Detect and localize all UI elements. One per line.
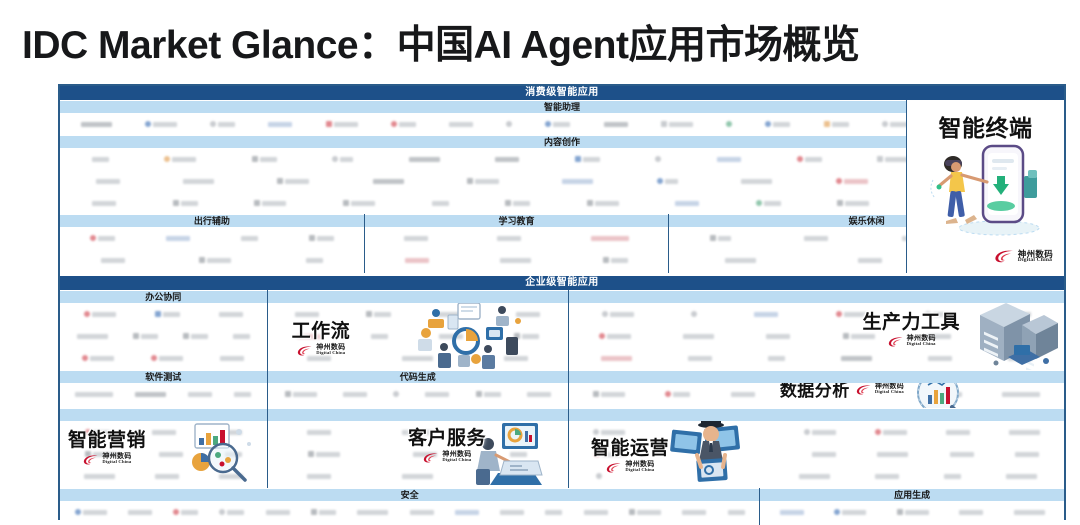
logo-grid-travel — [60, 227, 364, 273]
digital-china-logo: 神州数码 Digital China — [605, 461, 654, 473]
logo-item — [393, 391, 399, 397]
logo-item — [765, 121, 790, 127]
marketing-chart-magnifier-illustration — [173, 422, 259, 484]
logo-item — [373, 179, 404, 184]
logo-item — [410, 510, 434, 515]
brand-name-en: Digital China — [1018, 258, 1053, 264]
logo-item — [804, 429, 836, 435]
logo-row — [60, 325, 267, 347]
logo-grid-productivity: 生产力工具 神州数码 Digital China — [568, 303, 1064, 370]
logo-row — [60, 383, 267, 405]
logo-item — [877, 156, 909, 162]
logo-item — [959, 510, 983, 515]
logo-item — [455, 510, 479, 515]
logo-item — [277, 178, 309, 184]
logo-item — [402, 474, 433, 479]
server-rack-illustration — [960, 303, 1060, 370]
callout-productivity-tools: 生产力工具 神州数码 Digital China — [863, 307, 961, 347]
logo-grid-data-analysis: 数据分析 神州数码 Digital China — [568, 383, 1064, 408]
logo-item — [897, 509, 929, 515]
logo-item — [728, 510, 745, 515]
logo-item — [837, 200, 869, 206]
callout-label: 数据分析 — [780, 383, 850, 401]
enterprise-row1-logos: 工作流 神州数码 Digital China — [60, 303, 1064, 370]
logo-item — [92, 201, 116, 206]
logo-item — [601, 356, 632, 361]
logo-item — [326, 121, 358, 127]
logo-item — [183, 179, 214, 184]
consumer-section: 消费级智能应用 智能助理 — [60, 86, 1064, 273]
logo-item — [575, 156, 600, 162]
logo-item — [219, 509, 244, 515]
logo-item — [877, 452, 908, 457]
column-label-row3-left — [60, 408, 267, 421]
logo-row — [60, 249, 364, 271]
logo-item — [629, 509, 661, 515]
logo-item — [183, 333, 208, 339]
column-label-security: 安全 — [60, 488, 759, 501]
logo-item — [675, 201, 699, 206]
callout-workflow: 工作流 神州数码 Digital China — [292, 316, 351, 356]
logo-item — [306, 258, 323, 263]
logo-item — [587, 200, 619, 206]
column-label-travel: 出行辅助 — [60, 214, 364, 227]
logo-item — [155, 311, 180, 317]
logo-item — [841, 356, 872, 361]
digital-china-logo: 神州数码 Digital China — [855, 383, 904, 395]
logo-item — [92, 157, 109, 162]
logo-item — [210, 121, 235, 127]
logo-item — [90, 235, 115, 241]
column-label-education: 学习教育 — [365, 214, 669, 227]
logo-item — [133, 333, 158, 339]
logo-item — [710, 235, 731, 241]
logo-item — [77, 334, 108, 339]
logo-item — [164, 156, 196, 162]
callout-data-analysis: 数据分析 神州数码 Digital China — [780, 383, 904, 401]
logo-item — [766, 334, 790, 339]
logo-item — [1002, 392, 1040, 397]
logo-item — [596, 473, 602, 479]
logo-item — [495, 157, 519, 162]
column-label-office-collab: 办公协同 — [60, 290, 267, 303]
logo-row — [760, 501, 1064, 523]
enterprise-section: 企业级智能应用 办公协同 — [60, 276, 1064, 525]
logo-row — [365, 249, 669, 271]
logo-item — [409, 157, 440, 162]
logo-item — [599, 333, 631, 339]
logo-grid-office-collab — [60, 303, 267, 370]
callout-label: 客户服务 — [408, 423, 486, 450]
logo-item — [268, 122, 292, 127]
logo-item — [449, 122, 473, 127]
column-label-software-testing: 软件测试 — [60, 370, 267, 383]
digital-china-wordmark: 神州数码 Digital China — [1018, 250, 1053, 264]
digital-china-wordmark: 神州数码 Digital China — [316, 344, 345, 356]
logo-item — [432, 201, 449, 206]
brand-name-en: Digital China — [442, 458, 471, 463]
logo-item — [691, 311, 697, 317]
logo-item — [467, 178, 499, 184]
enterprise-row3-labels — [60, 408, 1064, 421]
logo-item — [591, 236, 629, 241]
enterprise-footer-labels: 安全 应用生成 — [60, 488, 1064, 501]
logo-grid-education — [364, 227, 669, 273]
digital-china-wordmark: 神州数码 Digital China — [907, 335, 936, 347]
logo-item — [657, 178, 678, 184]
logo-item — [545, 121, 570, 127]
logo-item — [1009, 430, 1040, 435]
logo-item — [233, 334, 250, 339]
logo-item — [506, 121, 512, 127]
logo-item — [309, 235, 334, 241]
digital-china-swirl-icon — [82, 453, 99, 465]
callout-customer-service: 客户服务 神州数码 Digital China — [408, 423, 486, 463]
logo-item — [754, 312, 778, 317]
logo-item — [824, 121, 849, 127]
logo-item — [725, 258, 756, 263]
logo-item — [756, 200, 781, 206]
logo-item — [199, 257, 231, 263]
logo-item — [683, 334, 714, 339]
logo-item — [946, 430, 970, 435]
logo-grid-security — [60, 501, 759, 525]
enterprise-row2-logos: 数据分析 神州数码 Digital China — [60, 383, 1064, 408]
consumer-header: 消费级智能应用 — [60, 86, 1064, 100]
logo-item — [75, 509, 107, 515]
logo-item — [655, 156, 661, 162]
market-board: 消费级智能应用 智能助理 — [58, 84, 1066, 520]
logo-grid-workflow: 工作流 神州数码 Digital China — [267, 303, 568, 370]
callout-label: 工作流 — [292, 316, 351, 343]
logo-item — [425, 392, 449, 397]
logo-item — [220, 356, 244, 361]
callout-smart-marketing: 智能营销 神州数码 Digital China — [68, 425, 146, 465]
logo-item — [661, 121, 693, 127]
logo-item — [505, 200, 530, 206]
logo-item — [497, 236, 521, 241]
logo-item — [602, 311, 634, 317]
logo-item — [391, 121, 416, 127]
logo-grid-smart-operations: 智能运营 神州数码 Digital China — [568, 421, 1064, 488]
logo-grid-code-generation — [267, 383, 568, 408]
logo-item — [858, 258, 882, 263]
logo-row — [365, 227, 669, 249]
logo-item — [366, 311, 391, 317]
logo-item — [812, 452, 836, 457]
enterprise-row3-logos: 智能营销 神州数码 Digital China — [60, 421, 1064, 488]
logo-item — [834, 509, 866, 515]
logo-row — [60, 303, 267, 325]
logo-item — [252, 156, 277, 162]
magnifier-data-circle-illustration — [910, 383, 972, 408]
digital-china-logo: 神州数码 Digital China — [422, 451, 471, 463]
logo-item — [82, 355, 114, 361]
callout-label: 智能终端 — [939, 109, 1033, 143]
logo-item — [928, 356, 952, 361]
digital-china-wordmark: 神州数码 Digital China — [875, 383, 904, 395]
digital-china-logo: 神州数码 Digital China — [82, 453, 131, 465]
logo-item — [135, 392, 166, 397]
logo-item — [731, 392, 755, 397]
logo-item — [545, 510, 562, 515]
logo-item — [96, 179, 120, 184]
logo-item — [254, 200, 286, 206]
logo-item — [84, 474, 115, 479]
column-label-row1-middle — [268, 290, 568, 303]
callout-smart-operations: 智能运营 神州数码 Digital China — [591, 433, 669, 473]
logo-item — [944, 474, 961, 479]
logo-row — [60, 347, 267, 369]
workflow-people-collage-illustration — [414, 303, 536, 370]
logo-item — [404, 236, 428, 241]
digital-china-wordmark: 神州数码 Digital China — [625, 461, 654, 473]
brand-name-en: Digital China — [316, 351, 345, 356]
logo-item — [75, 392, 113, 397]
logo-item — [1014, 510, 1045, 515]
logo-item — [804, 236, 828, 241]
logo-item — [604, 122, 628, 127]
logo-item — [188, 392, 212, 397]
logo-item — [780, 510, 804, 515]
logo-item — [726, 121, 732, 127]
brand-name-en: Digital China — [907, 342, 936, 347]
enterprise-footer-logos — [60, 501, 1064, 525]
callout-label: 智能运营 — [591, 433, 669, 460]
digital-china-logo: 神州数码 Digital China — [296, 344, 345, 356]
digital-china-swirl-icon — [605, 461, 622, 473]
logo-item — [527, 392, 551, 397]
logo-item — [405, 258, 429, 263]
logo-item — [308, 451, 340, 457]
logo-item — [241, 236, 258, 241]
logo-grid-smart-marketing: 智能营销 神州数码 Digital China — [60, 421, 267, 488]
logo-item — [332, 156, 353, 162]
market-glance-poster: IDC Market Glance：中国AI Agent应用市场概览 消费级智能… — [0, 0, 1080, 525]
digital-china-swirl-icon — [887, 335, 904, 347]
column-label-row3-middle — [268, 408, 568, 421]
digital-china-swirl-icon — [296, 344, 313, 356]
callout-label: 生产力工具 — [863, 307, 961, 334]
logo-grid-app-generation — [759, 501, 1064, 525]
logo-item — [285, 391, 317, 397]
enterprise-row1-labels: 办公协同 — [60, 290, 1064, 303]
column-label-app-generation: 应用生成 — [760, 488, 1064, 501]
logo-item — [343, 200, 375, 206]
logo-item — [799, 474, 830, 479]
logo-item — [875, 429, 907, 435]
enterprise-header: 企业级智能应用 — [60, 276, 1064, 290]
column-label-row2-right — [569, 370, 1064, 383]
logo-item — [836, 178, 868, 184]
logo-item — [357, 510, 388, 515]
callout-label: 智能营销 — [68, 425, 146, 452]
callout-smart-terminal: 智能终端 — [907, 109, 1064, 143]
businessman-dashboard-illustration — [669, 421, 753, 488]
logo-row — [60, 227, 364, 249]
digital-china-wordmark: 神州数码 Digital China — [442, 451, 471, 463]
logo-item — [1015, 452, 1039, 457]
logo-row — [268, 383, 568, 405]
logo-grid-customer-service: 客户服务 神州数码 Digital China — [267, 421, 568, 488]
brand-name-en: Digital China — [625, 468, 654, 473]
logo-item — [1006, 474, 1037, 479]
digital-china-logo: 神州数码 Digital China — [993, 249, 1053, 264]
logo-item — [875, 474, 899, 479]
logo-item — [219, 312, 243, 317]
logo-grid-software-testing — [60, 383, 267, 408]
logo-item — [128, 510, 152, 515]
logo-item — [266, 510, 290, 515]
smart-terminal-panel: 智能终端 — [906, 100, 1064, 273]
logo-item — [584, 510, 608, 515]
logo-item — [665, 391, 690, 397]
logo-item — [151, 355, 183, 361]
logo-item — [476, 391, 501, 397]
logo-item — [307, 430, 331, 435]
brand-name-en: Digital China — [102, 460, 131, 465]
logo-item — [173, 509, 198, 515]
digital-china-wordmark: 神州数码 Digital China — [102, 453, 131, 465]
logo-item — [797, 156, 822, 162]
logo-item — [166, 236, 190, 241]
digital-china-swirl-icon — [855, 383, 872, 395]
logo-item — [717, 157, 741, 162]
logo-item — [234, 392, 251, 397]
logo-item — [593, 391, 625, 397]
logo-item — [173, 200, 198, 206]
logo-item — [741, 179, 772, 184]
logo-item — [688, 356, 712, 361]
logo-item — [84, 311, 116, 317]
logo-item — [307, 474, 331, 479]
digital-china-swirl-icon — [993, 249, 1015, 264]
column-label-row1-right — [569, 290, 1064, 303]
digital-china-logo: 神州数码 Digital China — [887, 335, 936, 347]
enterprise-row2-labels: 软件测试 代码生成 — [60, 370, 1064, 383]
logo-item — [101, 258, 125, 263]
logo-item — [500, 510, 524, 515]
logo-item — [950, 452, 974, 457]
logo-item — [500, 258, 531, 263]
logo-item — [562, 179, 593, 184]
logo-row — [60, 501, 759, 523]
logo-item — [343, 392, 367, 397]
logo-item — [145, 121, 177, 127]
page-title: IDC Market Glance：中国AI Agent应用市场概览 — [22, 14, 860, 70]
logo-item — [371, 334, 388, 339]
column-label-row3-right — [569, 408, 1064, 421]
logo-item — [603, 257, 628, 263]
digital-china-swirl-icon — [422, 451, 439, 463]
logo-item — [81, 122, 112, 127]
logo-item — [311, 509, 336, 515]
logo-item — [768, 356, 785, 361]
brand-name-en: Digital China — [875, 390, 904, 395]
logo-item — [682, 510, 706, 515]
column-label-code-generation: 代码生成 — [268, 370, 568, 383]
person-vr-smartphone-illustration — [925, 136, 1049, 240]
